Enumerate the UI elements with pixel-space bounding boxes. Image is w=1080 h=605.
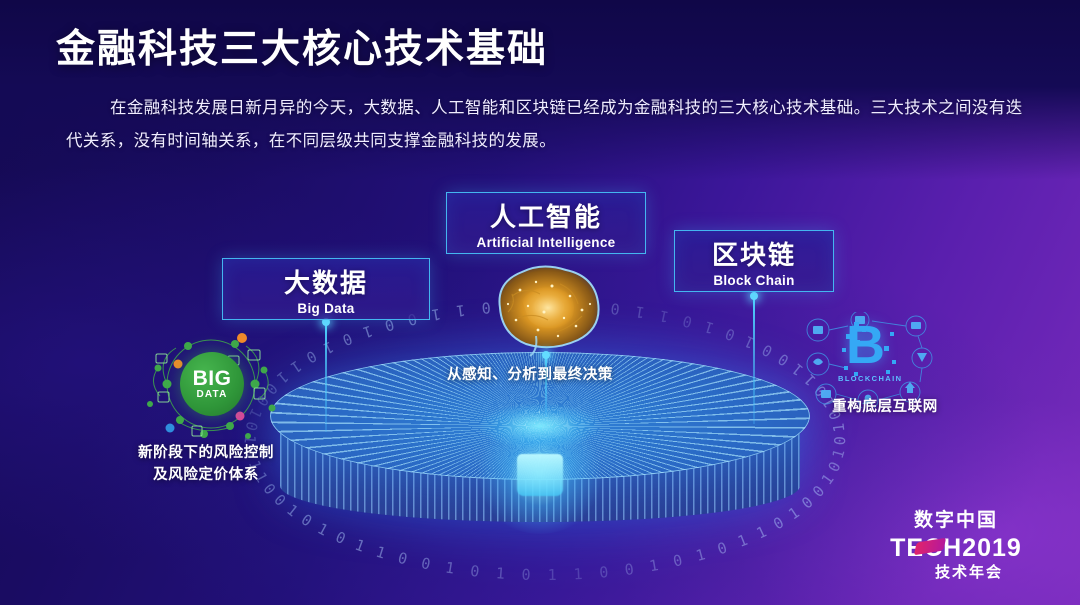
- big-data-badge-top: BIG: [193, 369, 232, 389]
- event-logo-wordmark: TECH2019: [890, 533, 1022, 563]
- connector-dot-block-chain: [750, 292, 758, 300]
- binary-digit: 1: [361, 322, 375, 342]
- brain-icon: [478, 256, 618, 360]
- pillar-label-artificial-intelligence-cn: 人工智能: [447, 202, 645, 232]
- pillar-label-block-chain-cn: 区块链: [675, 240, 833, 270]
- pillar-label-block-chain-en: Block Chain: [675, 271, 833, 291]
- caption-block-chain: 重构底层互联网: [800, 396, 970, 418]
- binary-digit: 1: [455, 301, 466, 320]
- pillar-label-big-data-cn: 大数据: [223, 268, 429, 298]
- disc-core-glow: [511, 446, 569, 502]
- binary-digit: 0: [420, 554, 432, 573]
- big-data-badge: BIG DATA: [180, 352, 244, 416]
- blockchain-icon-cluster: B BLOCKCHAIN: [798, 312, 942, 408]
- blockchain-wordmark: BLOCKCHAIN: [838, 374, 902, 383]
- pillar-label-artificial-intelligence[interactable]: 人工智能 Artificial Intelligence: [446, 192, 646, 254]
- binary-digit: 1: [634, 302, 646, 321]
- pillar-label-artificial-intelligence-en: Artificial Intelligence: [447, 233, 645, 253]
- big-data-badge-bottom: DATA: [196, 389, 227, 400]
- slide-canvas: 金融科技三大核心技术基础 在金融科技发展日新月异的今天，大数据、人工智能和区块链…: [0, 0, 1080, 605]
- paragraph-text: 在金融科技发展日新月异的今天，大数据、人工智能和区块链已经成为金融科技的三大核心…: [66, 99, 1023, 150]
- core-block: [517, 454, 563, 496]
- caption-big-data: 新阶段下的风险控制 及风险定价体系: [100, 442, 312, 486]
- binary-digit: 1: [495, 564, 505, 583]
- intro-paragraph: 在金融科技发展日新月异的今天，大数据、人工智能和区块链已经成为金融科技的三大核心…: [66, 92, 1026, 158]
- binary-digit: 1: [374, 543, 388, 563]
- binary-digit: 0: [521, 566, 531, 584]
- big-data-icon-cluster: BIG DATA: [136, 324, 286, 444]
- caption-artificial-intelligence-line1: 从感知、分析到最终决策: [430, 364, 630, 386]
- binary-digit: 0: [671, 551, 684, 571]
- caption-big-data-line2: 及风险定价体系: [100, 464, 312, 486]
- binary-digit: 0: [396, 549, 409, 569]
- binary-digit: 1: [829, 422, 848, 433]
- binary-digit: 1: [648, 556, 660, 575]
- binary-digit: 1: [548, 566, 557, 584]
- pillar-label-block-chain[interactable]: 区块链 Block Chain: [674, 230, 834, 292]
- binary-digit: 0: [809, 482, 828, 501]
- binary-digit: 0: [681, 312, 694, 332]
- connector-big-data: [325, 322, 327, 432]
- caption-block-chain-line1: 重构底层互联网: [800, 396, 970, 418]
- binary-digit: 1: [658, 307, 670, 326]
- blockchain-b-glyph: B: [846, 318, 885, 372]
- binary-digit: 0: [469, 562, 480, 581]
- event-logo-line2: 技术年会: [896, 563, 1042, 583]
- page-title: 金融科技三大核心技术基础: [56, 18, 548, 74]
- connector-dot-artificial-intelligence: [542, 351, 550, 359]
- binary-digit: 1: [694, 545, 707, 565]
- binary-digit: 0: [824, 459, 844, 475]
- binary-digit: 1: [742, 332, 758, 352]
- binary-digit: 0: [723, 324, 738, 344]
- binary-digit: 1: [702, 318, 716, 338]
- binary-digit: 0: [340, 329, 355, 349]
- caption-artificial-intelligence: 从感知、分析到最终决策: [430, 364, 630, 386]
- binary-digit: 1: [829, 447, 849, 461]
- binary-digit: 0: [831, 435, 850, 445]
- pillar-label-big-data-en: Big Data: [223, 299, 429, 319]
- caption-big-data-line1: 新阶段下的风险控制: [100, 442, 312, 464]
- binary-digit: 1: [573, 565, 583, 583]
- binary-digit: 0: [599, 563, 610, 582]
- event-logo-wordmark-text: TECH2019: [890, 534, 1022, 562]
- event-logo: 数字中国 TECH2019 技术年会: [870, 509, 1042, 583]
- binary-digit: 1: [444, 558, 456, 577]
- event-logo-line1: 数字中国: [870, 509, 1042, 533]
- binary-digit: 0: [624, 560, 635, 579]
- binary-digit: 1: [818, 471, 838, 489]
- binary-digit: 1: [430, 305, 442, 324]
- connector-block-chain: [753, 296, 755, 424]
- pillar-label-big-data[interactable]: 大数据 Big Data: [222, 258, 430, 320]
